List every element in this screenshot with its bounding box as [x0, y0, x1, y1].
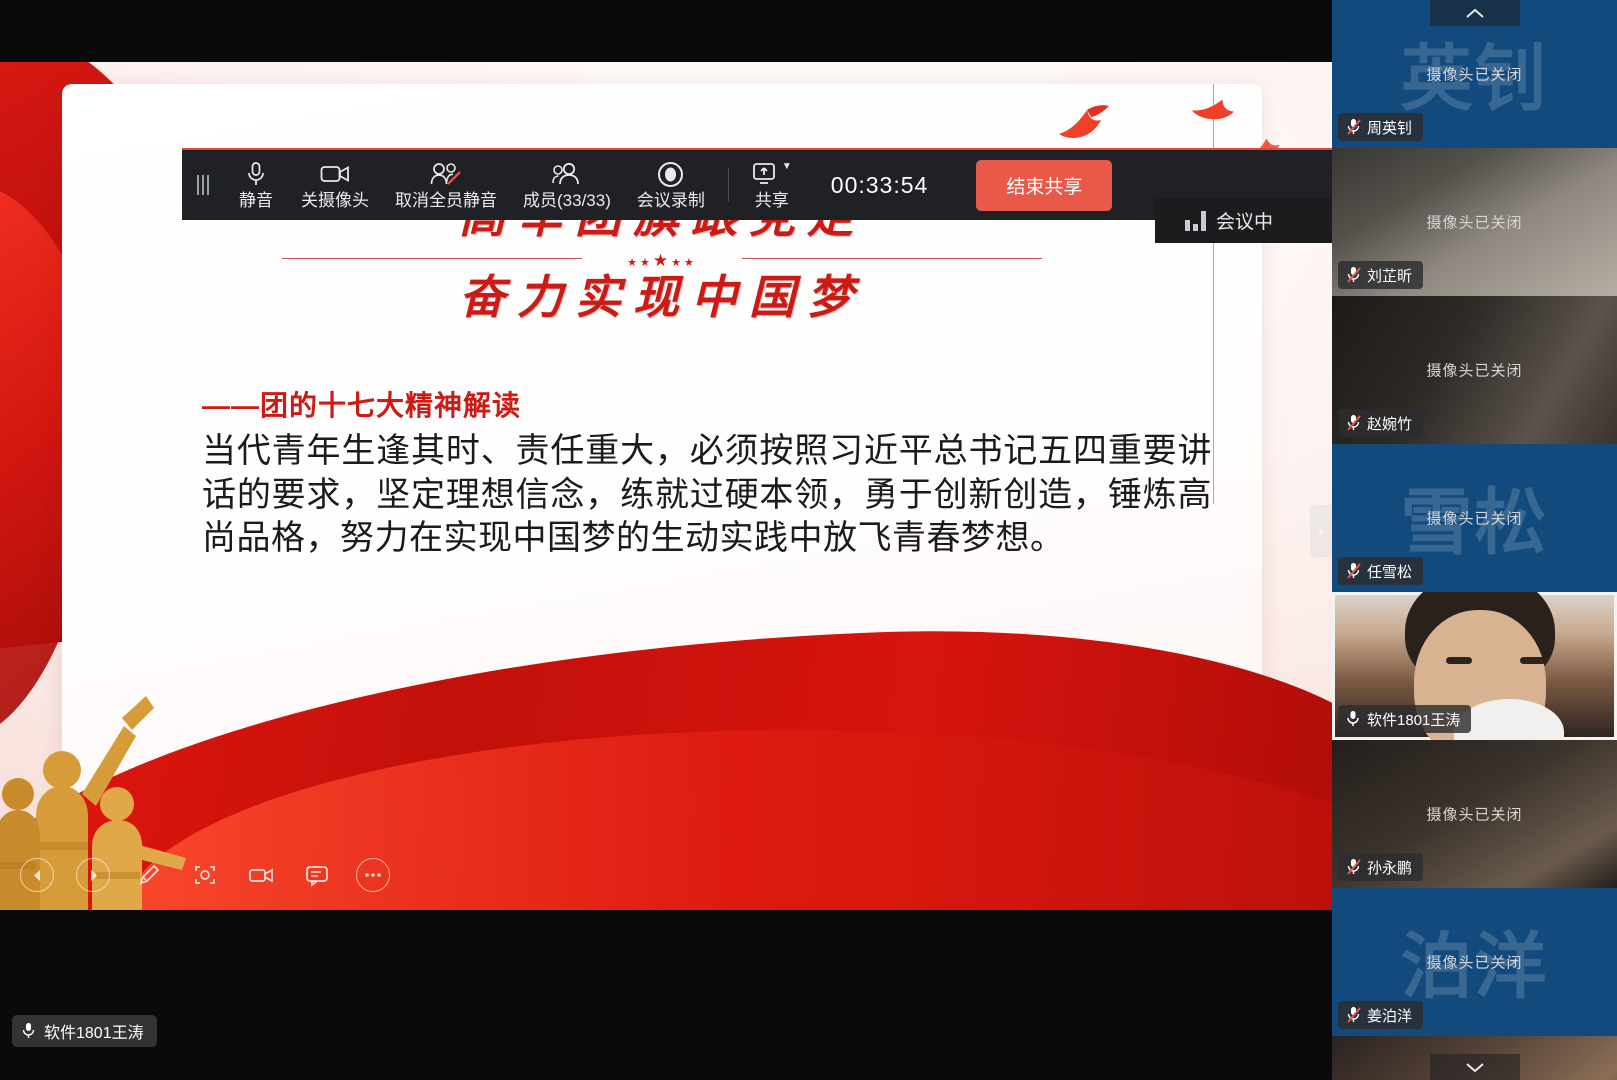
video-camera-icon	[320, 161, 350, 187]
record-circle-icon	[657, 161, 684, 187]
participant-tile[interactable]: 摄像头已关闭 赵婉竹	[1332, 296, 1617, 444]
self-name-label: 软件1801王涛	[44, 1019, 144, 1043]
participant-name-chip: 软件1801王涛	[1338, 705, 1471, 733]
chevron-down-icon[interactable]: ▼	[782, 161, 792, 172]
mute-button[interactable]: 静音	[224, 149, 288, 221]
members-button-label: 成员(33/33)	[523, 192, 611, 209]
participant-name: 周英钊	[1367, 117, 1412, 138]
participant-name-chip: 周英钊	[1338, 113, 1423, 141]
more-options-icon[interactable]	[356, 858, 390, 892]
previous-slide-icon[interactable]	[20, 858, 54, 892]
participant-name-chip: 赵婉竹	[1338, 409, 1423, 437]
avatar	[1520, 657, 1546, 664]
microphone-on-icon	[1346, 710, 1360, 728]
participant-name-chip: 刘芷昕	[1338, 261, 1423, 289]
presentation-controls[interactable]	[20, 858, 390, 892]
slide-title-line-2: 奋力实现中国梦	[62, 273, 1262, 324]
mute-button-label: 静音	[239, 192, 273, 209]
share-button[interactable]: ▼ 共享	[739, 149, 805, 221]
participant-name: 孙永鹏	[1367, 857, 1412, 878]
participant-tile[interactable]: 雪松 摄像头已关闭 任雪松	[1332, 444, 1617, 592]
chevron-right-icon[interactable]: ›	[1310, 505, 1332, 557]
participant-tile[interactable]: 摄像头已关闭 刘芷昕	[1332, 148, 1617, 296]
participant-name: 任雪松	[1367, 561, 1412, 582]
microphone-muted-icon	[1346, 266, 1360, 284]
record-button[interactable]: 会议录制	[624, 149, 718, 221]
share-screen-icon: ▼	[752, 161, 792, 187]
toolbar-divider	[728, 168, 729, 202]
self-name-chip: 软件1801王涛	[12, 1015, 157, 1047]
shared-screen-stage: 高举团旗跟党走 ★★★★★ 奋力实现中国梦 ——团的十七大精神解读 当代青年生逢…	[0, 0, 1332, 1080]
microphone-muted-icon	[1346, 562, 1360, 580]
microphone-muted-icon	[1346, 414, 1360, 432]
title-divider: ★★★★★	[282, 251, 1042, 265]
slide-body-text: 当代青年生逢其时、责任重大，必须按照习近平总书记五四重要讲话的要求，坚定理想信念…	[202, 430, 1212, 561]
participant-name: 刘芷昕	[1367, 265, 1412, 286]
dove-icon	[1057, 104, 1113, 142]
scroll-up-chevron-up-icon[interactable]	[1430, 0, 1520, 26]
participant-tile[interactable]: 泊洋 摄像头已关闭 姜泊洋	[1332, 888, 1617, 1036]
participant-name-chip: 孙永鹏	[1338, 853, 1423, 881]
camera-off-label: 摄像头已关闭	[1332, 508, 1617, 529]
end-share-button[interactable]: 结束共享	[976, 160, 1112, 211]
signal-bars-icon	[1185, 211, 1206, 231]
microphone-muted-icon	[1346, 1006, 1360, 1024]
microphone-muted-icon	[1346, 858, 1360, 876]
participant-tile-active-speaker[interactable]: 软件1801王涛	[1332, 592, 1617, 740]
participant-panel[interactable]: 英钊 摄像头已关闭 周英钊 摄像头已关闭 刘芷昕 摄像头已关闭	[1332, 0, 1617, 1080]
unmute-all-button[interactable]: 取消全员静音	[382, 149, 510, 221]
camera-off-label: 摄像头已关闭	[1332, 64, 1617, 85]
participant-name: 软件1801王涛	[1367, 709, 1460, 730]
camera-button-label: 关摄像头	[301, 192, 369, 209]
pen-annotate-icon[interactable]	[132, 858, 166, 892]
participant-name-chip: 姜泊洋	[1338, 1001, 1423, 1029]
letterbox-bottom	[0, 910, 1332, 1080]
play-next-slide-icon[interactable]	[76, 858, 110, 892]
camera-off-label: 摄像头已关闭	[1332, 360, 1617, 381]
record-button-label: 会议录制	[637, 192, 705, 209]
camera-off-label: 摄像头已关闭	[1332, 952, 1617, 973]
camera-off-label: 摄像头已关闭	[1332, 212, 1617, 233]
laser-pointer-icon[interactable]	[188, 858, 222, 892]
meeting-status-badge[interactable]: 会议中	[1155, 198, 1332, 243]
camera-off-label: 摄像头已关闭	[1332, 804, 1617, 825]
people-icon	[552, 161, 582, 187]
meeting-window: 高举团旗跟党走 ★★★★★ 奋力实现中国梦 ——团的十七大精神解读 当代青年生逢…	[0, 0, 1617, 1080]
slide-body-block: ——团的十七大精神解读 当代青年生逢其时、责任重大，必须按照习近平总书记五四重要…	[202, 384, 1212, 561]
meeting-timer: 00:33:54	[831, 172, 929, 199]
microphone-muted-icon	[1346, 118, 1360, 136]
avatar	[1446, 657, 1472, 664]
slide-subheading: ——团的十七大精神解读	[202, 384, 1212, 424]
comment-icon[interactable]	[300, 858, 334, 892]
camera-button[interactable]: 关摄像头	[288, 149, 382, 221]
participant-name: 赵婉竹	[1367, 413, 1412, 434]
unmute-all-button-label: 取消全员静音	[395, 192, 497, 209]
scroll-down-chevron-down-icon[interactable]	[1430, 1054, 1520, 1080]
dove-icon	[1189, 89, 1241, 129]
microphone-icon	[245, 161, 267, 187]
participants-muted-icon	[430, 161, 462, 187]
meeting-status-label: 会议中	[1216, 207, 1273, 234]
share-button-label: 共享	[755, 192, 789, 209]
members-button[interactable]: 成员(33/33)	[510, 149, 624, 221]
microphone-on-icon	[22, 1022, 36, 1040]
drag-handle-icon[interactable]	[182, 175, 224, 195]
participant-tile[interactable]: 摄像头已关闭 孙永鹏	[1332, 740, 1617, 888]
participant-name-chip: 任雪松	[1338, 557, 1423, 585]
decorative-stars: ★★★★★	[627, 251, 697, 271]
participant-name: 姜泊洋	[1367, 1005, 1412, 1026]
video-icon[interactable]	[244, 858, 278, 892]
